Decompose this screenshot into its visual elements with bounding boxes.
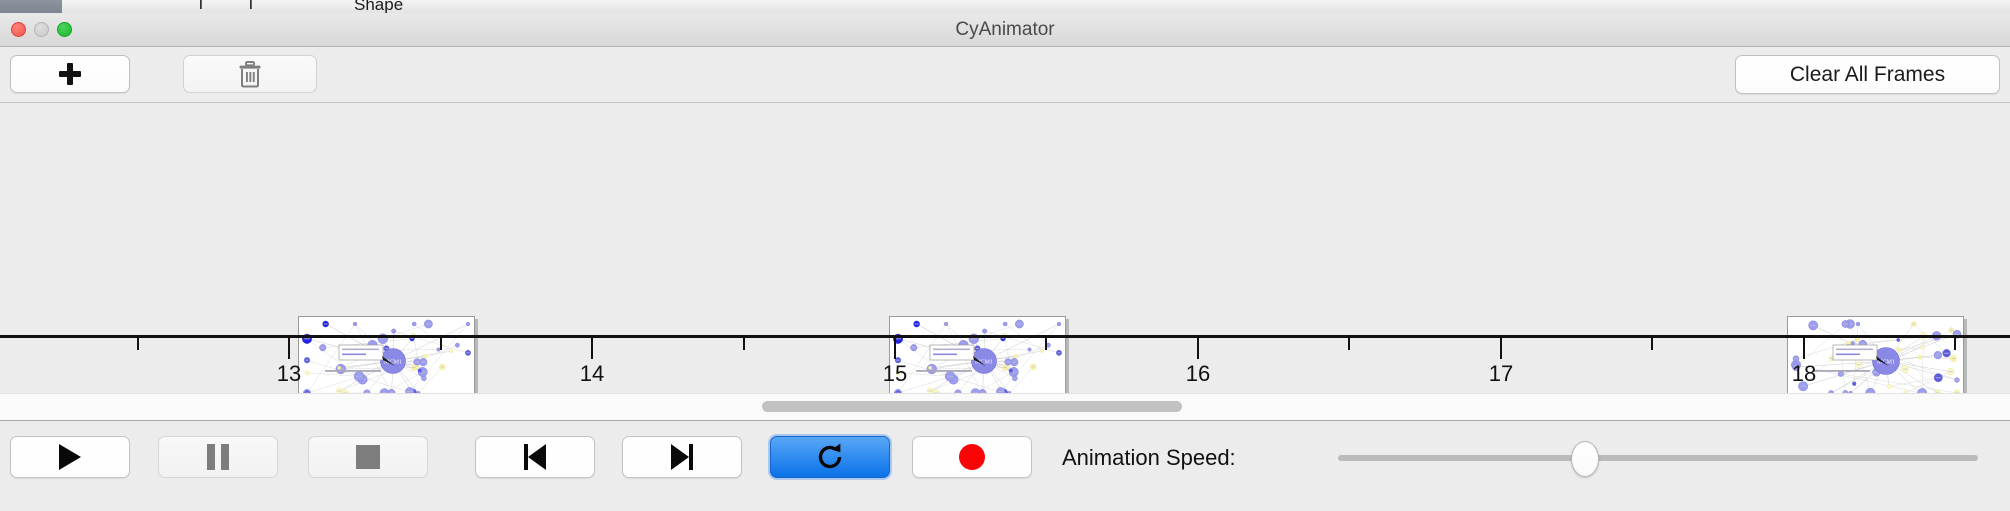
timeline-tick [1045, 338, 1047, 350]
bg-segment [777, 0, 1903, 13]
timeline-panel[interactable]: MCM1MCM1MCM1 12131415161718 Seconds [0, 103, 2010, 393]
loop-button[interactable] [770, 436, 890, 478]
stop-button[interactable] [308, 436, 428, 478]
play-icon [59, 444, 81, 470]
timeline-tick-label: 14 [580, 361, 604, 387]
animation-speed-slider[interactable] [1338, 455, 1978, 461]
stop-icon [356, 445, 380, 469]
frames-toolbar: Clear All Frames [0, 47, 2010, 103]
window-title: CyAnimator [0, 19, 2010, 41]
cyanimator-window: CyAnimator Clear All Frames MCM1MCM1MCM1… [0, 13, 2010, 510]
timeline-axis [0, 335, 2010, 338]
previous-frame-button[interactable] [475, 436, 595, 478]
pause-button[interactable] [158, 436, 278, 478]
bg-glyph: T [196, 0, 206, 14]
timeline-tick [1348, 338, 1350, 350]
loop-icon [815, 442, 845, 472]
plus-icon [58, 62, 82, 86]
bg-segment [705, 0, 778, 13]
timeline-tick [1803, 338, 1805, 359]
play-button[interactable] [10, 436, 130, 478]
timeline-tick [1500, 338, 1502, 359]
keyframe-thumbnail[interactable]: MCM1 [889, 316, 1066, 393]
record-button[interactable] [912, 436, 1032, 478]
timeline-tick [743, 338, 745, 350]
bg-segment [1902, 0, 1958, 13]
transport-bar: Animation Speed: [0, 421, 2010, 511]
timeline-tick-label: 17 [1489, 361, 1513, 387]
clear-all-frames-label: Clear All Frames [1790, 63, 1945, 87]
timeline-tick [137, 338, 139, 350]
trash-icon [237, 60, 263, 88]
timeline-tick [288, 338, 290, 359]
slider-thumb[interactable] [1571, 441, 1599, 477]
scrollbar-thumb[interactable] [762, 401, 1182, 412]
slider-track [1338, 455, 1978, 461]
timeline-tick [591, 338, 593, 359]
timeline-scrollbar[interactable] [0, 393, 2010, 421]
bg-segment [62, 0, 151, 13]
network-graph-preview: MCM1 [299, 317, 475, 393]
timeline-tick [1954, 338, 1956, 350]
hub-node-label: MCM1 [384, 358, 402, 365]
delete-frame-button[interactable] [183, 55, 317, 93]
timeline-tick [440, 338, 442, 350]
timeline-tick-label: 18 [1792, 361, 1816, 387]
skip-back-icon [522, 444, 548, 470]
bg-segment [1957, 0, 2010, 13]
bg-shape-label: Shape [354, 0, 403, 14]
animation-speed-label: Animation Speed: [1062, 445, 1236, 471]
bg-segment [150, 0, 191, 13]
skip-forward-icon [669, 444, 695, 470]
keyframe-thumbnail[interactable]: MCM1 [298, 316, 475, 393]
timeline-tick [1651, 338, 1653, 350]
timeline-tick [894, 338, 896, 359]
timeline-tick-label: 15 [883, 361, 907, 387]
background-window-strip: T T Shape [0, 0, 2010, 14]
timeline-tick-label: 16 [1186, 361, 1210, 387]
pause-icon [207, 444, 229, 470]
timeline-tick-label: 13 [277, 361, 301, 387]
add-frame-button[interactable] [10, 55, 130, 93]
timeline-tick [1197, 338, 1199, 359]
next-frame-button[interactable] [622, 436, 742, 478]
network-graph-preview: MCM1 [890, 317, 1066, 393]
title-bar: CyAnimator [0, 13, 2010, 47]
clear-all-frames-button[interactable]: Clear All Frames [1735, 55, 2000, 94]
hub-node-label: MCM1 [975, 358, 993, 365]
bg-glyph: T [246, 0, 256, 14]
record-icon [959, 444, 985, 470]
bg-segment [0, 0, 63, 13]
